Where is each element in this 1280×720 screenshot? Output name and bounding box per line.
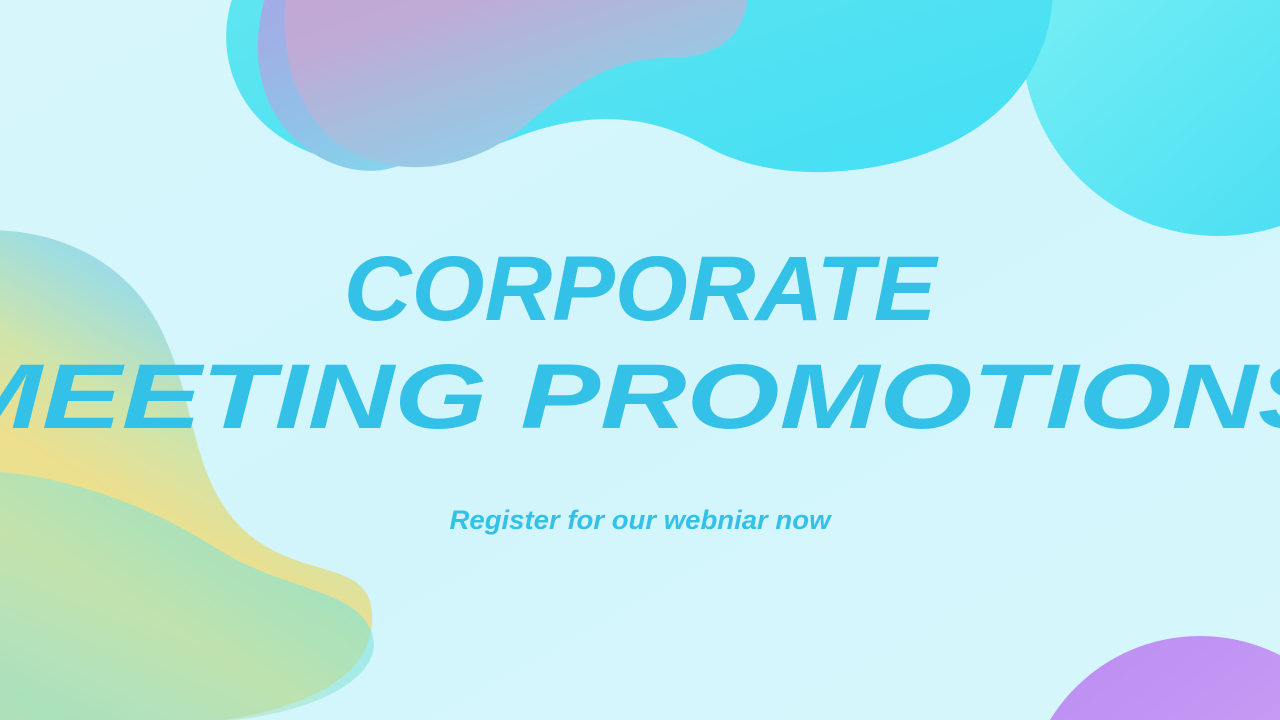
promo-slide: CORPORATE MEETING PROMOTIONS Register fo… xyxy=(0,0,1280,720)
slide-content: CORPORATE MEETING PROMOTIONS Register fo… xyxy=(0,0,1280,720)
headline-line-1: CORPORATE xyxy=(0,243,1280,335)
subheadline: Register for our webniar now xyxy=(0,505,1280,536)
headline-block: CORPORATE MEETING PROMOTIONS xyxy=(0,243,1280,443)
headline-line-2: MEETING PROMOTIONS xyxy=(0,351,1280,443)
